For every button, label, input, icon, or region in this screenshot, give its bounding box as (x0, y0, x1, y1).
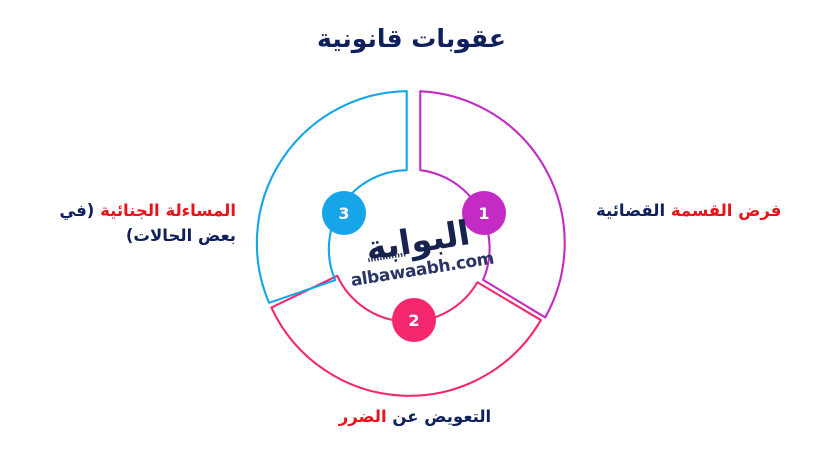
node-bubble-3[interactable]: 3 (322, 191, 366, 235)
segment-label-2-rest: التعويض عن (387, 407, 492, 426)
segment-label-2-highlight: الضرر (339, 407, 387, 426)
node-bubble-2[interactable]: 2 (392, 298, 436, 342)
node-number-2: 2 (408, 311, 419, 330)
segment-label-3-highlight: المساءلة الجنائية (94, 201, 236, 220)
segment-label-1: فرض القسمة القضائية (596, 198, 781, 223)
segment-label-3: المساءلة الجنائية (في بعض الحالات) (26, 198, 236, 248)
donut-diagram: 1 2 3 البوابة albawaabh.com فرض القسمة ا… (0, 0, 823, 450)
segment-label-2: التعويض عن الضرر (300, 404, 530, 429)
node-number-3: 3 (338, 204, 349, 223)
segment-label-1-rest: القضائية (596, 201, 665, 220)
node-number-1: 1 (478, 204, 489, 223)
node-bubble-1[interactable]: 1 (462, 191, 506, 235)
segment-label-1-highlight: فرض القسمة (665, 201, 781, 220)
